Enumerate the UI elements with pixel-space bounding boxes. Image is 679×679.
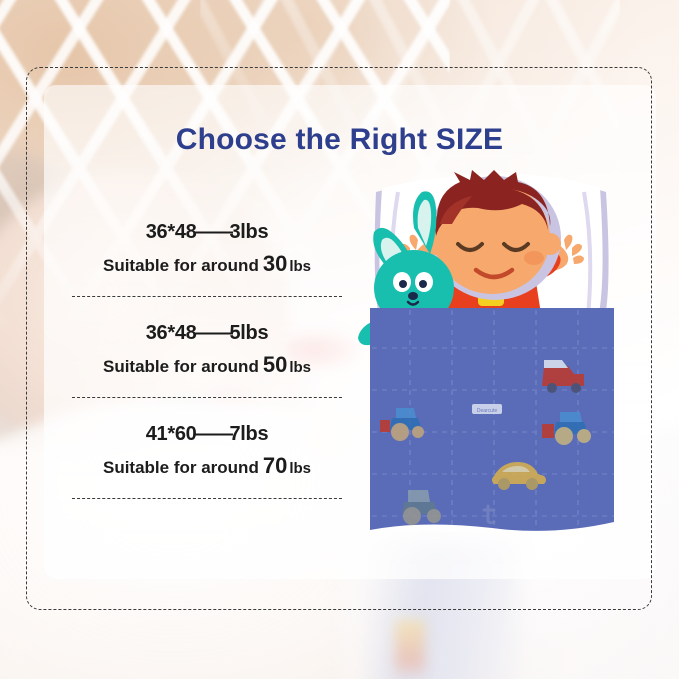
svg-text:Dearcute: Dearcute [477, 408, 498, 414]
sleeping-boy-illustration: Dearcute [352, 170, 630, 542]
size-row-2-dash: —— [195, 322, 230, 344]
size-list: 36*48——3lbs Suitable for around30lbs 36*… [72, 222, 342, 499]
size-row-1-suitable-prefix: Suitable for around [103, 256, 259, 275]
size-row-2-suitable: Suitable for around50lbs [72, 354, 342, 376]
size-row-3-suitable-value: 70 [263, 453, 287, 478]
size-row-1: 36*48——3lbs Suitable for around30lbs [72, 222, 342, 297]
size-row-1-spec: 36*48——3lbs [72, 222, 342, 242]
size-row-3-dash: —— [195, 423, 230, 445]
size-row-2-dimension: 36*48 [146, 322, 197, 344]
size-row-3-dimension: 41*60 [146, 423, 197, 445]
size-row-3-suitable-unit: lbs [289, 460, 311, 477]
size-row-1-dash: —— [195, 221, 230, 243]
size-guide-infographic: Choose the Right SIZE 36*48——3lbs Suitab… [0, 0, 679, 679]
size-row-2-suitable-value: 50 [263, 352, 287, 377]
size-row-2: 36*48——5lbs Suitable for around50lbs [72, 323, 342, 398]
size-row-3-suitable: Suitable for around70lbs [72, 455, 342, 477]
boy-cheek [524, 251, 544, 265]
size-row-3-suitable-prefix: Suitable for around [103, 458, 259, 477]
size-row-3: 41*60——7lbs Suitable for around70lbs [72, 424, 342, 499]
row-spacer-1 [72, 297, 342, 323]
size-row-1-suitable: Suitable for around30lbs [72, 253, 342, 275]
size-row-2-divider [72, 397, 342, 398]
size-row-2-suitable-prefix: Suitable for around [103, 357, 259, 376]
size-row-2-spec: 36*48——5lbs [72, 323, 342, 343]
size-row-1-suitable-value: 30 [263, 251, 287, 276]
page-title: Choose the Right SIZE [0, 123, 679, 157]
size-row-1-dimension: 36*48 [146, 221, 197, 243]
size-row-1-divider [72, 296, 342, 297]
size-row-3-divider [72, 498, 342, 499]
size-row-3-spec: 41*60——7lbs [72, 424, 342, 444]
size-row-3-weight: 7lbs [229, 423, 268, 445]
size-row-2-weight: 5lbs [229, 322, 268, 344]
size-row-1-weight: 3lbs [229, 221, 268, 243]
blanket: Dearcute [362, 300, 624, 542]
size-row-1-suitable-unit: lbs [289, 258, 311, 275]
motif-label-tag: Dearcute [472, 404, 502, 414]
row-spacer-2 [72, 398, 342, 424]
size-row-2-suitable-unit: lbs [289, 359, 311, 376]
background-cloth-accent [395, 620, 425, 679]
